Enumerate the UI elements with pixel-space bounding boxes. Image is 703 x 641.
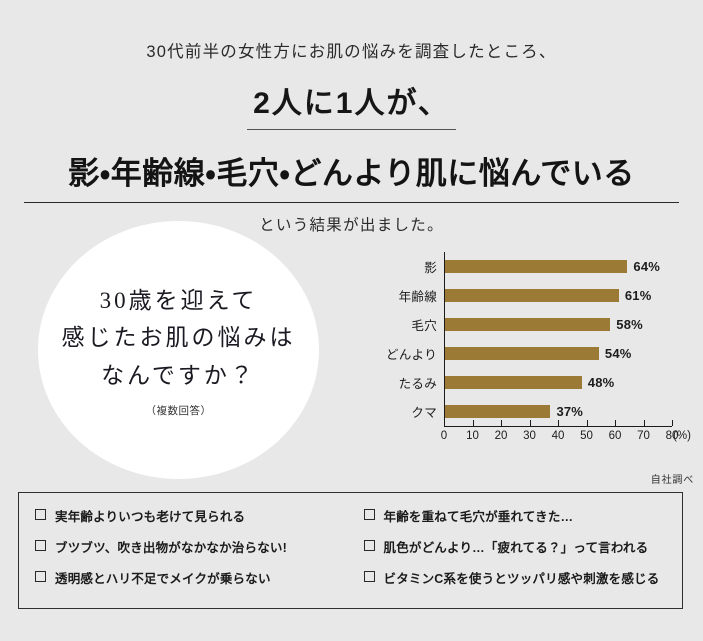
axis-tick	[501, 420, 502, 426]
bar-category-label: 年齢線	[380, 286, 444, 305]
checklist-item[interactable]: 肌色がどんより…「疲れてる？」って言われる	[364, 537, 683, 556]
symptom-checklist: 実年齢よりいつも老けて見られるブツブツ、吹き出物がなかなか治らない!透明感とハリ…	[18, 492, 683, 609]
checklist-item-label: 実年齢よりいつも老けて見られる	[55, 506, 245, 525]
checkbox-icon[interactable]	[35, 571, 46, 582]
question-line-2: 感じたお肌の悩みは	[62, 319, 296, 356]
checkbox-icon[interactable]	[35, 509, 46, 520]
checklist-item-label: 年齢を重ねて毛穴が垂れてきた…	[384, 506, 574, 525]
axis-tick-label: 60	[609, 430, 622, 442]
bar-track: 48%	[444, 368, 682, 397]
checklist-column-right: 年齢を重ねて毛穴が垂れてきた…肌色がどんより…「疲れてる？」って言われるビタミン…	[354, 506, 683, 608]
chart-rows: 影64%年齢線61%毛穴58%どんより54%たるみ48%クマ37%	[380, 252, 690, 426]
bar-category-label: たるみ	[380, 373, 444, 392]
checklist-item[interactable]: 透明感とハリ不足でメイクが乗らない	[35, 568, 354, 587]
axis-tick-label: 10	[466, 430, 479, 442]
axis-tick-label: 30	[523, 430, 536, 442]
bar-fill	[445, 289, 619, 302]
headline-divider	[24, 202, 679, 203]
axis-tick-label: 20	[495, 430, 508, 442]
bar-fill	[445, 318, 610, 331]
axis-tick	[587, 420, 588, 426]
axis-unit-label: (%)	[673, 430, 691, 442]
lead-text: 30代前半の女性方にお肌の悩みを調査したところ、	[0, 38, 703, 62]
emphasis-text: 2人に1人が、	[247, 78, 456, 130]
chart-source: 自社調べ	[651, 471, 694, 486]
question-line-1: 30歳を迎えて	[100, 282, 258, 319]
bar-track: 54%	[444, 339, 682, 368]
checklist-item[interactable]: ブツブツ、吹き出物がなかなか治らない!	[35, 537, 354, 556]
bar-chart: 影64%年齢線61%毛穴58%どんより54%たるみ48%クマ37% 010203…	[380, 252, 690, 482]
bar-row: 年齢線61%	[380, 281, 690, 310]
bar-value-label: 64%	[633, 259, 660, 274]
bar-category-label: どんより	[380, 344, 444, 363]
bar-fill	[445, 260, 627, 273]
axis-line	[444, 426, 672, 427]
bar-value-label: 54%	[605, 346, 632, 361]
bar-value-label: 61%	[625, 288, 652, 303]
bar-fill	[445, 405, 550, 418]
axis-tick	[473, 420, 474, 426]
bar-value-label: 58%	[616, 317, 643, 332]
main-headline: 影・年齢線・毛穴・どんより肌に悩んでいる	[0, 148, 703, 193]
bar-track: 58%	[444, 310, 682, 339]
bar-row: 毛穴58%	[380, 310, 690, 339]
bar-track: 37%	[444, 397, 682, 426]
axis-tick-label: 50	[580, 430, 593, 442]
bar-value-label: 48%	[588, 375, 615, 390]
checklist-item-label: 透明感とハリ不足でメイクが乗らない	[55, 568, 271, 587]
axis-tick	[672, 420, 673, 426]
axis-tick	[530, 420, 531, 426]
bar-row: 影64%	[380, 252, 690, 281]
tail-text: という結果が出ました。	[0, 213, 703, 235]
bar-track: 61%	[444, 281, 682, 310]
bar-category-label: 影	[380, 257, 444, 276]
checklist-item[interactable]: ビタミンC系を使うとツッパリ感や刺激を感じる	[364, 568, 683, 587]
bar-fill	[445, 376, 582, 389]
question-note: （複数回答）	[146, 403, 212, 418]
checklist-column-left: 実年齢よりいつも老けて見られるブツブツ、吹き出物がなかなか治らない!透明感とハリ…	[19, 506, 354, 608]
axis-tick-label: 0	[441, 430, 447, 442]
bar-value-label: 37%	[556, 404, 583, 419]
emphasis-wrap: 2人に1人が、	[0, 78, 703, 130]
bar-row: どんより54%	[380, 339, 690, 368]
axis-tick-label: 40	[552, 430, 565, 442]
bar-category-label: クマ	[380, 402, 444, 421]
question-circle: 30歳を迎えて 感じたお肌の悩みは なんですか？ （複数回答）	[38, 221, 319, 479]
bar-track: 64%	[444, 252, 682, 281]
checklist-item[interactable]: 実年齢よりいつも老けて見られる	[35, 506, 354, 525]
bar-fill	[445, 347, 599, 360]
checklist-item[interactable]: 年齢を重ねて毛穴が垂れてきた…	[364, 506, 683, 525]
checkbox-icon[interactable]	[35, 540, 46, 551]
axis-tick	[615, 420, 616, 426]
question-line-3: なんですか？	[101, 357, 256, 394]
axis-tick	[558, 420, 559, 426]
axis-tick	[644, 420, 645, 426]
axis-tick-label: 70	[637, 430, 650, 442]
axis-tick	[444, 420, 445, 426]
checkbox-icon[interactable]	[364, 540, 375, 551]
checklist-item-label: ブツブツ、吹き出物がなかなか治らない!	[55, 537, 287, 556]
headline-block: 30代前半の女性方にお肌の悩みを調査したところ、 2人に1人が、 影・年齢線・毛…	[0, 0, 703, 235]
checkbox-icon[interactable]	[364, 509, 375, 520]
bar-row: たるみ48%	[380, 368, 690, 397]
checklist-item-label: ビタミンC系を使うとツッパリ感や刺激を感じる	[384, 568, 660, 587]
checkbox-icon[interactable]	[364, 571, 375, 582]
checklist-item-label: 肌色がどんより…「疲れてる？」って言われる	[384, 537, 649, 556]
bar-category-label: 毛穴	[380, 315, 444, 334]
